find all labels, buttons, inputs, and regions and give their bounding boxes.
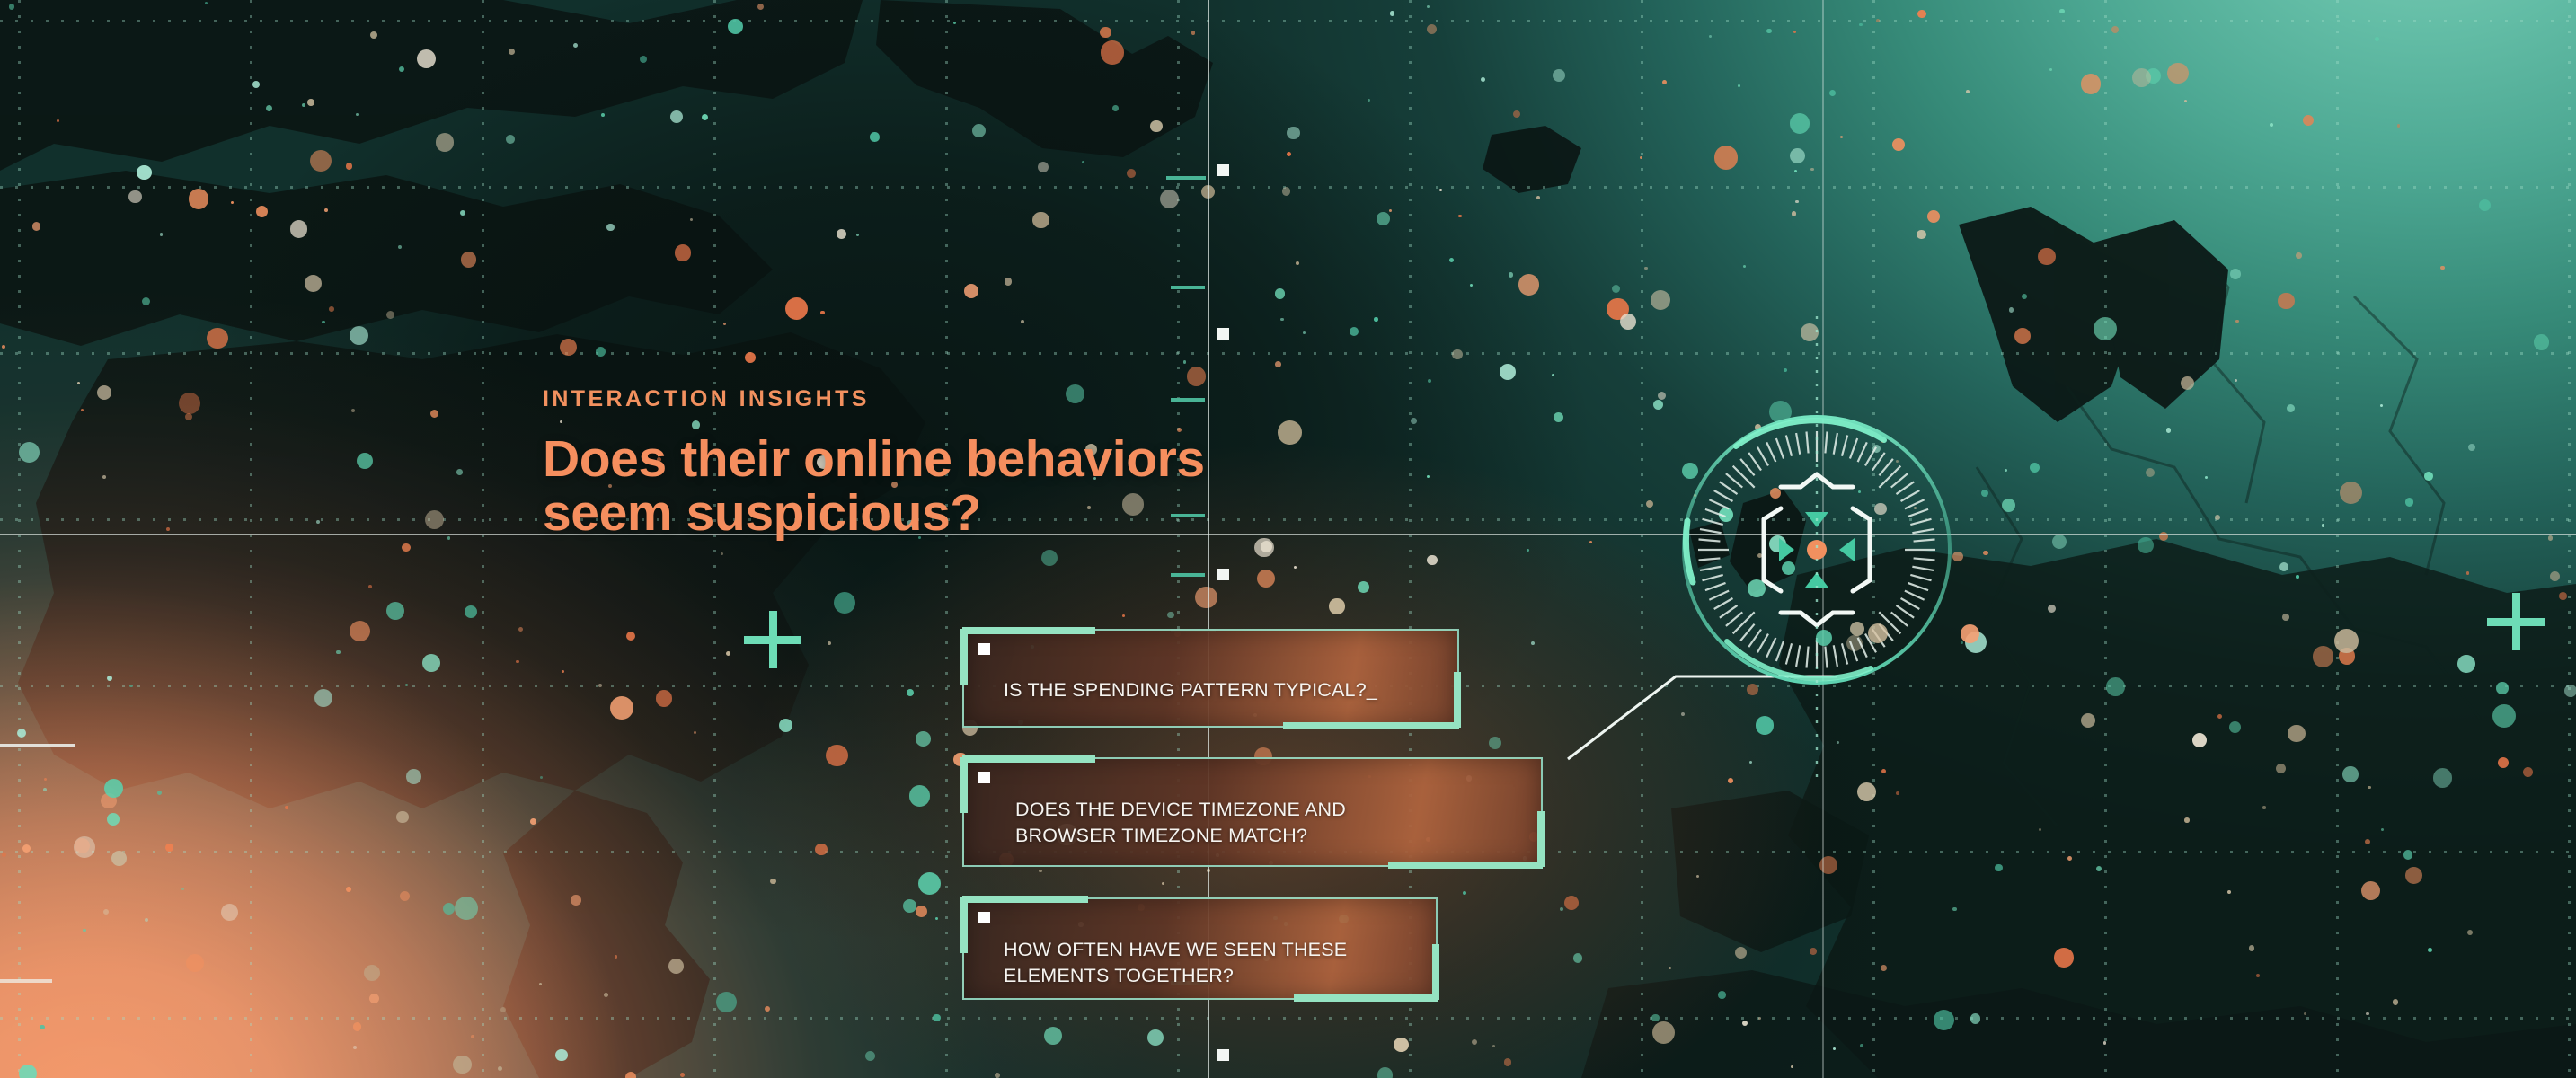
activity-dot [1377, 212, 1390, 225]
activity-dot [368, 585, 372, 588]
guide-square-marker [1217, 328, 1229, 340]
activity-dot [2334, 629, 2359, 653]
activity-dot [2279, 562, 2288, 571]
corner-accent-top-left [962, 627, 1095, 634]
activity-dot [1881, 769, 1886, 773]
activity-dot [2322, 524, 2325, 527]
activity-dot [726, 651, 730, 656]
activity-dot [1101, 40, 1125, 65]
activity-dot [865, 1051, 875, 1061]
activity-dot [1735, 947, 1747, 959]
activity-dot [1160, 190, 1179, 208]
activity-dot [1966, 90, 1970, 93]
activity-dot [1995, 864, 2003, 872]
activity-dot [2030, 463, 2040, 473]
activity-dot [1294, 566, 1297, 570]
activity-dot [2479, 199, 2491, 211]
activity-dot [1329, 598, 1344, 614]
activity-dot [443, 903, 456, 915]
activity-dot [1790, 113, 1810, 134]
activity-dot [430, 410, 439, 419]
activity-dot [1646, 500, 1653, 508]
activity-dot [97, 385, 111, 400]
activity-dot [815, 844, 828, 856]
activity-dot [1531, 641, 1535, 645]
guide-tick-dash [1171, 573, 1205, 577]
activity-dot [1427, 475, 1430, 478]
activity-dot [1791, 1065, 1793, 1068]
activity-dot [2303, 115, 2314, 126]
activity-dot [626, 632, 635, 641]
activity-dot [656, 690, 673, 707]
activity-dot [1859, 23, 1863, 27]
activity-dot [2296, 575, 2299, 579]
activity-dot [2184, 817, 2190, 823]
activity-dot [398, 245, 403, 250]
activity-dot [336, 650, 341, 655]
activity-dot [2227, 890, 2231, 894]
activity-dot [2433, 768, 2452, 787]
activity-dot [1793, 31, 1796, 33]
activity-dot [540, 776, 543, 779]
activity-dot [314, 689, 332, 707]
activity-dot [598, 684, 602, 687]
activity-dot [2365, 839, 2370, 844]
activity-dot [447, 536, 451, 540]
activity-dot [1458, 215, 1461, 217]
activity-dot [2138, 537, 2154, 553]
activity-dot [1742, 1021, 1748, 1026]
activity-dot [1439, 189, 1442, 191]
activity-dot [350, 621, 370, 641]
activity-dot [1952, 907, 1956, 911]
activity-dot [1640, 156, 1642, 159]
activity-dot [2132, 68, 2151, 87]
activity-dot [1038, 162, 1049, 172]
activity-dot [256, 206, 268, 217]
activity-dot [907, 689, 915, 697]
activity-dot [1187, 367, 1207, 386]
activity-dot [2103, 1041, 2107, 1045]
activity-dot [471, 1035, 474, 1038]
activity-dot [157, 791, 162, 795]
activity-dot [1810, 948, 1816, 954]
activity-dot [128, 190, 142, 204]
activity-dot [1470, 284, 1473, 287]
activity-dot [1564, 896, 1579, 910]
activity-dot [2550, 571, 2560, 581]
activity-dot [405, 684, 408, 686]
activity-dot [40, 1025, 45, 1030]
activity-dot [2304, 1012, 2306, 1015]
question-card-spending-pattern[interactable]: IS THE SPENDING PATTERN TYPICAL?_ [962, 629, 1459, 728]
activity-dot [539, 983, 543, 986]
activity-dot [1981, 490, 1988, 497]
activity-dot [2229, 721, 2241, 733]
activity-dot [1449, 258, 1454, 262]
activity-dot [2380, 404, 2383, 407]
activity-dot [1481, 77, 1485, 82]
activity-dot [770, 879, 776, 885]
activity-dot [2381, 828, 2384, 831]
activity-dot [690, 218, 694, 222]
activity-dot [1127, 169, 1136, 178]
guide-square-marker [1217, 569, 1229, 580]
activity-dot [1492, 1045, 1495, 1047]
activity-dot [2278, 293, 2295, 310]
activity-dot [765, 1006, 770, 1012]
activity-dot [1644, 267, 1647, 269]
activity-dot [870, 132, 880, 142]
activity-dot [2467, 930, 2473, 935]
activity-dot [2270, 123, 2273, 127]
activity-dot [2342, 766, 2359, 782]
crosshair-marker-right [2487, 593, 2545, 650]
activity-dot [1790, 148, 1805, 163]
activity-dot [2096, 866, 2102, 871]
corner-accent-bottom-right [1537, 811, 1545, 867]
activity-dot [1896, 791, 1900, 796]
activity-dot [2166, 428, 2172, 433]
activity-dot [610, 696, 633, 720]
activity-dot [19, 1065, 37, 1078]
activity-dot [1257, 570, 1275, 588]
activity-dot [1044, 1027, 1062, 1045]
activity-dot [316, 520, 320, 524]
activity-dot [1122, 614, 1125, 617]
activity-dot [1833, 1047, 1836, 1050]
activity-dot [103, 909, 109, 915]
activity-dot [2, 345, 5, 349]
question-card-elements-together[interactable]: HOW OFTEN HAVE WE SEEN THESE ELEMENTS TO… [962, 897, 1438, 1000]
activity-dot [1794, 170, 1798, 173]
activity-dot [2361, 881, 2380, 900]
activity-dot [422, 654, 440, 672]
activity-dot [1795, 200, 1799, 204]
activity-dot [1195, 587, 1217, 608]
guide-line-horizontal-primary [0, 534, 2576, 535]
activity-dot [2081, 74, 2102, 94]
activity-dot [179, 393, 200, 414]
activity-dot [1934, 1010, 1954, 1030]
activity-dot [1792, 211, 1797, 216]
activity-dot [702, 114, 708, 120]
activity-dot [160, 233, 163, 235]
activity-dot [933, 1014, 940, 1021]
activity-dot [2296, 252, 2302, 259]
question-card-timezone-match[interactable]: DOES THE DEVICE TIMEZONE AND BROWSER TIM… [962, 757, 1543, 867]
activity-dot [1112, 105, 1119, 111]
activity-dot [107, 676, 112, 681]
activity-dot [2498, 757, 2509, 768]
activity-dot [916, 906, 927, 917]
activity-dot [290, 220, 307, 237]
activity-dot [2235, 320, 2238, 323]
activity-dot [1032, 212, 1049, 228]
activity-dot [1280, 318, 1284, 322]
activity-dot [834, 592, 855, 614]
activity-dot [266, 105, 272, 111]
activity-dot [1278, 420, 1302, 445]
activity-dot [357, 453, 373, 469]
activity-dot [596, 347, 606, 357]
activity-dot [2424, 472, 2433, 481]
activity-dot [285, 806, 288, 809]
activity-dot [1147, 1029, 1164, 1046]
activity-dot [181, 888, 184, 890]
activity-dot [728, 19, 743, 34]
corner-accent-bottom-right [1432, 944, 1439, 1000]
activity-dot [2534, 334, 2549, 349]
activity-dot [1287, 127, 1300, 140]
activity-dot [2548, 535, 2554, 541]
activity-dot [2403, 850, 2413, 860]
activity-dot [465, 605, 477, 618]
activity-dot [1509, 272, 1514, 278]
activity-dot [1427, 5, 1430, 8]
activity-dot [1518, 274, 1540, 296]
activity-dot [1669, 967, 1671, 969]
corner-accent-bottom-right [1294, 994, 1438, 1002]
activity-dot [1041, 550, 1058, 567]
activity-dot [506, 135, 515, 144]
activity-dot [1350, 327, 1359, 336]
question-card-text: IS THE SPENDING PATTERN TYPICAL?_ [1004, 677, 1435, 703]
activity-dot [351, 409, 355, 412]
activity-dot [186, 954, 204, 972]
activity-dot [2022, 294, 2027, 299]
activity-dot [675, 244, 692, 261]
activity-dot [1743, 265, 1746, 268]
guide-tick-dash [1171, 286, 1205, 289]
activity-dot [364, 965, 380, 981]
activity-dot [346, 163, 353, 170]
activity-dot [757, 4, 764, 10]
activity-dot [460, 210, 466, 216]
activity-dot [2235, 379, 2237, 382]
activity-dot [2181, 376, 2194, 390]
activity-dot [1427, 24, 1437, 34]
activity-dot [2111, 26, 2119, 33]
activity-dot [142, 297, 150, 305]
activity-dot [1612, 285, 1620, 293]
activity-dot [2215, 515, 2220, 520]
corner-accent-top-left [960, 757, 968, 813]
activity-dot [302, 103, 305, 107]
activity-dot [207, 328, 228, 349]
activity-dot [2262, 806, 2266, 809]
activity-dot [1536, 196, 1540, 199]
corner-accent-top-left [962, 896, 1088, 903]
activity-dot [909, 785, 931, 807]
activity-dot [1552, 374, 1554, 376]
activity-dot [1840, 136, 1843, 138]
activity-dot [640, 56, 647, 63]
activity-dot [22, 844, 31, 853]
activity-dot [1428, 379, 1431, 383]
activity-dot [2313, 646, 2334, 667]
activity-dot [83, 929, 85, 932]
activity-dot [189, 189, 209, 209]
activity-dot [1275, 361, 1281, 367]
activity-dot [1183, 360, 1187, 364]
radar-reticle[interactable] [1673, 406, 1961, 694]
activity-dot [1411, 418, 1417, 424]
guide-square-marker [1217, 164, 1229, 176]
activity-dot [1970, 1013, 1980, 1023]
activity-dot [2192, 733, 2208, 748]
activity-dot [1282, 187, 1291, 196]
activity-dot [1801, 323, 1819, 341]
activity-dot [2205, 476, 2208, 479]
activity-dot [77, 382, 80, 384]
activity-dot [455, 897, 478, 920]
edge-tick-left [0, 979, 52, 983]
activity-dot [386, 311, 394, 319]
activity-dot [19, 442, 40, 463]
activity-dot [107, 813, 120, 826]
corner-accent-top-left [960, 897, 968, 953]
activity-dot [2106, 677, 2125, 696]
activity-dot [2393, 999, 2399, 1005]
activity-dot [353, 1046, 358, 1050]
activity-dot [2496, 682, 2509, 694]
activity-dot [252, 81, 260, 88]
activity-dot [509, 49, 515, 55]
activity-dot [1275, 288, 1286, 299]
activity-dot [555, 1049, 567, 1061]
activity-dot [2564, 685, 2576, 698]
activity-dot [935, 917, 938, 920]
activity-dot [1513, 110, 1520, 118]
activity-dot [1162, 882, 1164, 885]
activity-dot [17, 729, 26, 738]
activity-dot [2184, 100, 2187, 102]
activity-dot [721, 552, 723, 555]
card-bullet-marker [978, 643, 990, 655]
activity-dot [1560, 907, 1563, 911]
activity-dot [2523, 767, 2533, 777]
activity-dot [2038, 248, 2056, 266]
activity-dot [2276, 764, 2286, 773]
activity-dot [779, 719, 792, 732]
activity-dot [573, 43, 578, 48]
activity-dot [625, 1072, 637, 1078]
edge-tick-left [0, 744, 75, 747]
activity-dot [111, 851, 127, 866]
activity-dot [417, 49, 436, 68]
activity-dot [2492, 704, 2516, 728]
activity-dot [356, 113, 359, 116]
page-title: Does their online behaviors seem suspici… [543, 432, 1205, 541]
activity-dot [2002, 499, 2015, 512]
activity-dot [1658, 392, 1666, 400]
activity-dot [1021, 320, 1024, 323]
activity-dot [2440, 266, 2444, 269]
activity-dot [953, 22, 956, 24]
activity-dot [562, 670, 564, 673]
corner-accent-bottom-right [1454, 672, 1461, 728]
activity-dot [2039, 828, 2041, 831]
activity-dot [1766, 29, 1771, 33]
activity-dot [205, 2, 208, 4]
activity-dot [1784, 368, 1787, 372]
activity-dot [2366, 1012, 2369, 1016]
activity-dot [1553, 69, 1565, 82]
activity-dot [350, 326, 368, 345]
activity-dot [903, 899, 916, 913]
question-card-text: HOW OFTEN HAVE WE SEEN THESE ELEMENTS TO… [1004, 937, 1426, 989]
activity-dot [1368, 99, 1370, 102]
activity-dot [310, 150, 332, 172]
activity-dot [1927, 210, 1940, 223]
activity-dot [826, 745, 848, 767]
activity-dot [1662, 80, 1667, 84]
guide-square-marker [1217, 1049, 1229, 1061]
activity-dot [856, 234, 859, 236]
headline-block: INTERACTION INSIGHTS Does their online b… [543, 388, 1205, 541]
activity-dot [1377, 1067, 1394, 1078]
activity-dot [399, 66, 404, 72]
activity-dot [406, 769, 421, 784]
activity-dot [322, 321, 325, 324]
activity-dot [2, 853, 7, 858]
activity-dot [1829, 90, 1837, 97]
activity-dot [1728, 778, 1733, 783]
activity-dot [129, 685, 133, 688]
activity-dot [81, 409, 84, 411]
activity-dot [185, 413, 192, 420]
activity-dot [2468, 444, 2475, 451]
activity-dot [1983, 551, 1988, 556]
activity-dot [560, 339, 578, 357]
activity-dot [2282, 614, 2289, 621]
activity-dot [1254, 538, 1274, 558]
activity-dot [2288, 725, 2305, 742]
activity-dot [1881, 965, 1887, 971]
activity-dot [498, 1066, 502, 1071]
activity-dot [369, 994, 379, 1003]
activity-dot [694, 731, 696, 734]
activity-dot [2014, 328, 2032, 345]
activity-dot [44, 778, 47, 781]
activity-dot [1427, 555, 1438, 566]
activity-dot [1504, 1058, 1511, 1065]
eyebrow-label: INTERACTION INSIGHTS [543, 388, 1205, 411]
activity-dot [2067, 856, 2072, 861]
activity-dot [1718, 991, 1726, 999]
activity-dot [1651, 1014, 1660, 1022]
activity-dot [1527, 549, 1529, 552]
activity-dot [1452, 349, 1463, 360]
activity-dot [972, 124, 986, 137]
activity-dot [1167, 612, 1174, 619]
activity-dot [1082, 161, 1084, 163]
activity-dot [1191, 31, 1196, 35]
activity-dot [353, 1022, 362, 1031]
activity-dot [2049, 68, 2052, 71]
activity-dot [1651, 290, 1670, 310]
activity-dot [145, 918, 148, 922]
activity-dot [2059, 9, 2064, 13]
activity-dot [516, 660, 519, 664]
activity-dot [370, 31, 377, 39]
card-bullet-marker [978, 772, 990, 783]
activity-dot [43, 788, 47, 791]
activity-dot [453, 1056, 471, 1074]
activity-dot [329, 306, 334, 312]
activity-dot [324, 208, 328, 212]
